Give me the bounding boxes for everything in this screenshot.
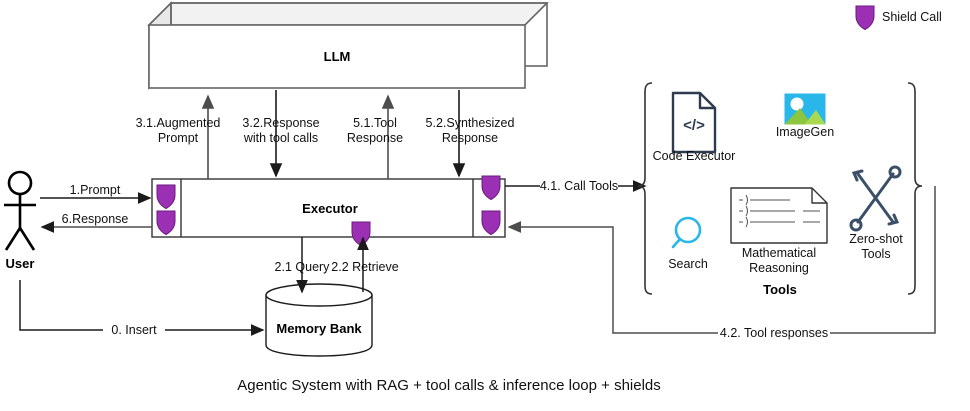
memory-bank-node[interactable]: Memory Bank — [266, 284, 372, 356]
edge-label-synthesized-l2: Response — [442, 131, 498, 145]
llm-node[interactable]: LLM — [149, 3, 547, 88]
edge-label-insert: 0. Insert — [111, 323, 157, 337]
edge-label-retrieve: 2.2 Retrieve — [331, 260, 398, 274]
crossed-wrenches-icon — [851, 167, 900, 230]
tools-right-brace — [908, 83, 922, 294]
formula-document-icon — [731, 188, 827, 243]
edge-label-prompt: 1.Prompt — [70, 183, 121, 197]
tool-label-imagegen: ImageGen — [776, 125, 834, 139]
shield-icon-legend — [856, 6, 874, 30]
user-label: User — [6, 256, 35, 271]
edge-label-call-tools: 4.1. Call Tools — [540, 179, 618, 193]
edge-label-tool-response-l1: 5.1.Tool — [353, 116, 397, 130]
user-node[interactable] — [4, 172, 36, 250]
tool-label-zero-shot-l1: Zero-shot — [849, 232, 903, 246]
tool-label-math-reasoning-l2: Reasoning — [749, 261, 809, 275]
edge-label-augmented-prompt-l2: Prompt — [158, 131, 199, 145]
image-icon — [784, 93, 826, 125]
architecture-diagram: LLM Executor Memory Bank User 3.1.Augmen… — [0, 0, 970, 411]
edge-label-query: 2.1 Query — [275, 260, 331, 274]
tool-label-code-executor: Code Executor — [653, 149, 736, 163]
tool-label-zero-shot-l2: Tools — [861, 247, 890, 261]
code-file-icon: </> — [673, 93, 715, 152]
edge-label-response-tool-calls-l2: with tool calls — [243, 131, 318, 145]
svg-text:</>: </> — [683, 117, 705, 134]
llm-label: LLM — [324, 49, 351, 64]
memory-bank-label: Memory Bank — [276, 321, 362, 336]
edge-label-response: 6.Response — [62, 212, 129, 226]
edge-label-augmented-prompt-l1: 3.1.Augmented — [136, 116, 221, 130]
tool-label-math-reasoning-l1: Mathematical — [742, 246, 816, 260]
executor-node[interactable]: Executor — [152, 179, 505, 237]
edge-label-tool-response-l2: Response — [347, 131, 403, 145]
tools-title: Tools — [763, 282, 797, 297]
edge-label-response-tool-calls-l1: 3.2.Response — [242, 116, 319, 130]
magnifier-icon — [673, 218, 700, 247]
edge-label-synthesized-l1: 5.2.Synthesized — [426, 116, 515, 130]
legend-label: Shield Call — [882, 10, 942, 24]
executor-label: Executor — [302, 201, 358, 216]
legend: Shield Call — [856, 6, 942, 30]
shield-icon-executor-memory — [352, 222, 370, 246]
edge-label-tool-responses: 4.2. Tool responses — [720, 326, 828, 340]
tool-label-search: Search — [668, 257, 708, 271]
diagram-caption: Agentic System with RAG + tool calls & i… — [237, 377, 661, 394]
tools-left-brace — [638, 83, 652, 294]
